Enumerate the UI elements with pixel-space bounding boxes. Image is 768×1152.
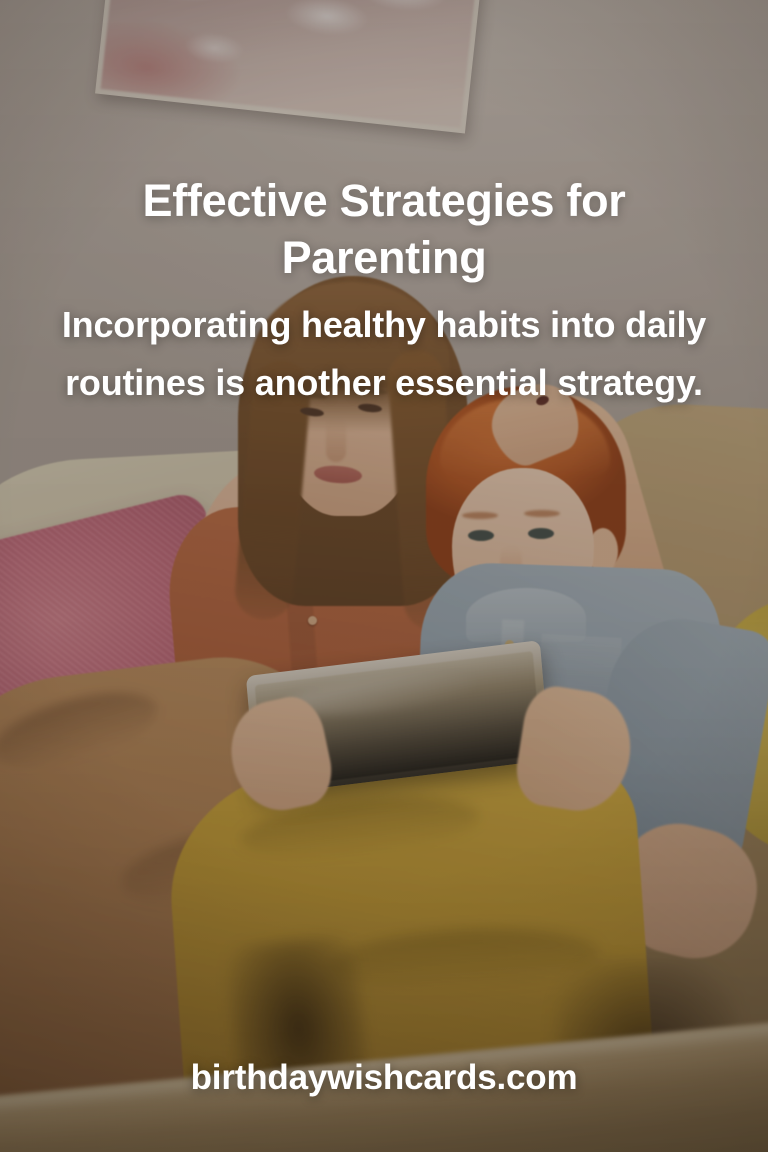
page-subtitle: Incorporating healthy habits into daily … xyxy=(52,296,716,411)
headline-block: Effective Strategies for Parenting Incor… xyxy=(0,172,768,411)
pinterest-pin-card: Effective Strategies for Parenting Incor… xyxy=(0,0,768,1152)
text-overlay: Effective Strategies for Parenting Incor… xyxy=(0,0,768,1152)
footer-block: birthdaywishcards.com xyxy=(0,1058,768,1098)
page-title: Effective Strategies for Parenting xyxy=(52,172,716,286)
site-url: birthdaywishcards.com xyxy=(0,1058,768,1098)
